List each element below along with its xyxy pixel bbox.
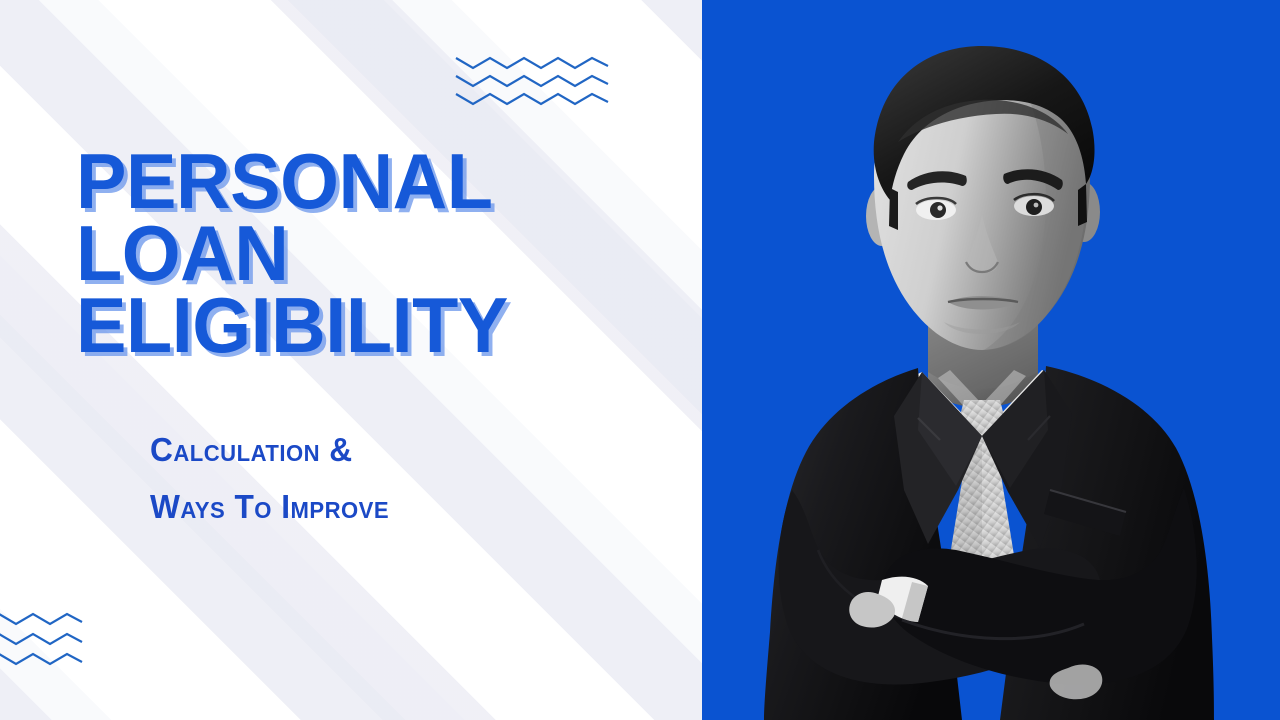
left-content-panel: PERSONAL LOAN ELIGIBILITY Calculation & … — [0, 0, 702, 720]
page-subtitle: Calculation & Ways To Improve — [150, 422, 389, 536]
banner-root: PERSONAL LOAN ELIGIBILITY Calculation & … — [0, 0, 1280, 720]
page-subtitle-line-2: Ways To Improve — [150, 479, 389, 536]
page-subtitle-line-1: Calculation & — [150, 422, 389, 479]
zigzag-wave-icon-bottom — [0, 612, 96, 678]
zigzag-wave-icon-top — [452, 52, 612, 112]
right-image-panel — [702, 0, 1280, 720]
page-title: PERSONAL LOAN ELIGIBILITY — [76, 146, 508, 361]
businessman-portrait-image — [732, 20, 1232, 720]
